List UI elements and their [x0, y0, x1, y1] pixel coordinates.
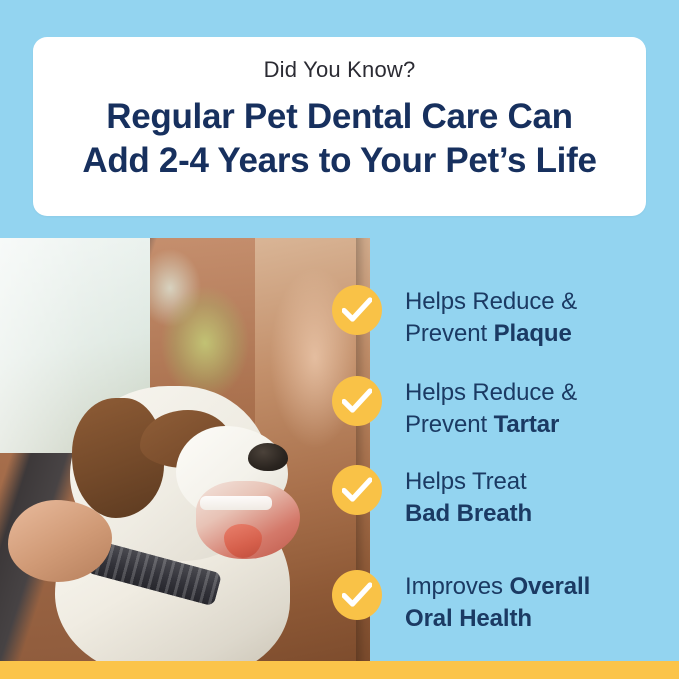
headline-line-2: Add 2-4 Years to Your Pet’s Life [51, 139, 628, 183]
photo-dog [0, 238, 370, 662]
benefit-item-tartar: Helps Reduce & Prevent Tartar [332, 376, 652, 441]
page-title: Regular Pet Dental Care Can Add 2-4 Year… [51, 85, 628, 183]
check-icon [332, 376, 382, 426]
benefit-line-1: Helps Reduce & [405, 377, 577, 409]
bottom-accent-bar [0, 661, 679, 679]
benefit-item-plaque: Helps Reduce & Prevent Plaque [332, 285, 652, 350]
benefit-line-2: Prevent Tartar [405, 409, 577, 441]
check-icon [332, 465, 382, 515]
benefit-line-1: Improves Overall [405, 571, 590, 603]
benefit-line-2: Prevent Plaque [405, 318, 577, 350]
benefit-line-1: Helps Treat [405, 466, 532, 498]
check-icon [332, 570, 382, 620]
dog-nose-shape [248, 443, 288, 471]
benefit-line-2-plain: Prevent [405, 320, 494, 347]
benefit-line-2-bold: Bad Breath [405, 500, 532, 527]
check-icon [332, 285, 382, 335]
dog-teeth-shape [200, 496, 272, 510]
benefit-line-2-bold: Oral Health [405, 605, 532, 632]
benefits-list: Helps Reduce & Prevent Plaque Helps Redu… [332, 262, 652, 654]
dog-photo [0, 238, 370, 662]
infographic-root: Did You Know? Regular Pet Dental Care Ca… [0, 0, 679, 679]
headline-line-1: Regular Pet Dental Care Can [51, 95, 628, 139]
benefit-line-1: Helps Reduce & [405, 286, 577, 318]
benefit-line-1-bold: Overall [509, 573, 590, 600]
benefit-line-1-plain: Improves [405, 573, 509, 600]
benefit-text: Improves Overall Oral Health [405, 570, 590, 635]
benefit-line-2-bold: Tartar [494, 411, 560, 438]
benefit-item-bad-breath: Helps Treat Bad Breath [332, 465, 652, 530]
benefit-line-2-bold: Plaque [494, 320, 572, 347]
benefit-item-oral-health: Improves Overall Oral Health [332, 570, 652, 635]
benefit-text: Helps Reduce & Prevent Tartar [405, 376, 577, 441]
benefit-line-2-plain: Prevent [405, 411, 494, 438]
benefit-line-2: Oral Health [405, 603, 590, 635]
benefit-text: Helps Reduce & Prevent Plaque [405, 285, 577, 350]
headline-card: Did You Know? Regular Pet Dental Care Ca… [33, 37, 646, 216]
benefit-text: Helps Treat Bad Breath [405, 465, 532, 530]
eyebrow-text: Did You Know? [51, 51, 628, 85]
benefit-line-2: Bad Breath [405, 498, 532, 530]
